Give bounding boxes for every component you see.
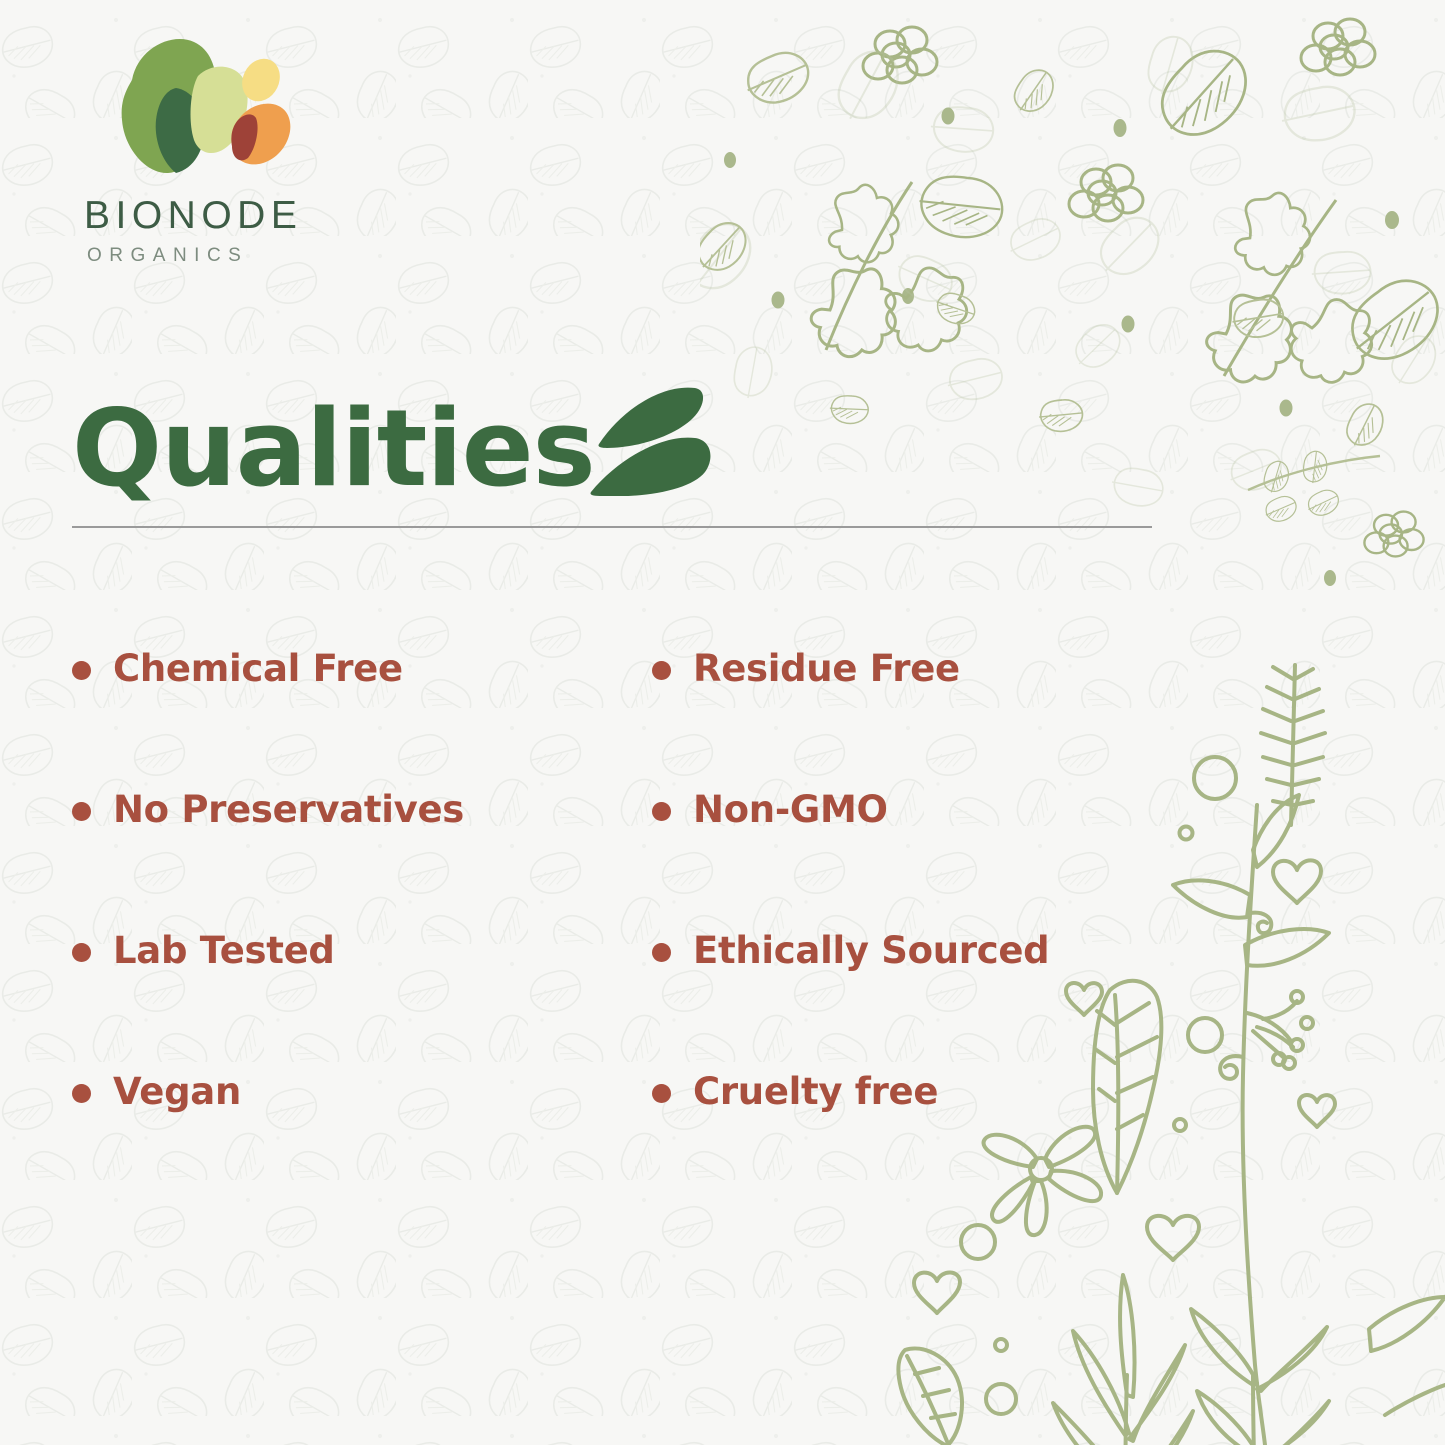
quality-label: Ethically Sourced xyxy=(693,930,1049,973)
bullet-dot-icon xyxy=(72,943,91,962)
bullet-dot-icon xyxy=(72,661,91,680)
brand-wordmark: BIONODE ORGANICS xyxy=(80,196,410,265)
brand-tagline: ORGANICS xyxy=(84,246,410,265)
quality-item-chemical-free: Chemical Free xyxy=(72,648,652,789)
brand-name: BIONODE xyxy=(84,196,410,235)
quality-item-residue-free: Residue Free xyxy=(652,648,1142,789)
heading-divider xyxy=(72,526,1152,528)
organic-blobs-icon xyxy=(94,28,304,188)
bullet-dot-icon xyxy=(652,1084,671,1103)
heading-block: Qualities xyxy=(72,382,1152,528)
poster-canvas: BIONODE ORGANICS Qualities Chemical Free… xyxy=(0,0,1445,1445)
quality-item-lab-tested: Lab Tested xyxy=(72,930,652,1071)
bullet-dot-icon xyxy=(652,943,671,962)
quality-label: Lab Tested xyxy=(113,930,335,973)
qualities-list: Chemical Free Residue Free No Preservati… xyxy=(72,648,1142,1212)
quality-item-ethically-sourced: Ethically Sourced xyxy=(652,930,1142,1071)
quality-label: Vegan xyxy=(113,1071,241,1114)
page-title: Qualities xyxy=(72,396,595,502)
bullet-dot-icon xyxy=(652,661,671,680)
quality-label: Cruelty free xyxy=(693,1071,938,1114)
quality-label: Chemical Free xyxy=(113,648,403,691)
two-leaf-icon xyxy=(589,386,719,496)
quality-label: Residue Free xyxy=(693,648,960,691)
quality-item-cruelty-free: Cruelty free xyxy=(652,1071,1142,1212)
bullet-dot-icon xyxy=(72,802,91,821)
quality-label: No Preservatives xyxy=(113,789,464,832)
quality-label: Non-GMO xyxy=(693,789,888,832)
quality-item-no-preservatives: No Preservatives xyxy=(72,789,652,930)
bullet-dot-icon xyxy=(72,1084,91,1103)
quality-item-vegan: Vegan xyxy=(72,1071,652,1212)
bullet-dot-icon xyxy=(652,802,671,821)
quality-item-non-gmo: Non-GMO xyxy=(652,789,1142,930)
brand-logo[interactable]: BIONODE ORGANICS xyxy=(80,28,410,265)
